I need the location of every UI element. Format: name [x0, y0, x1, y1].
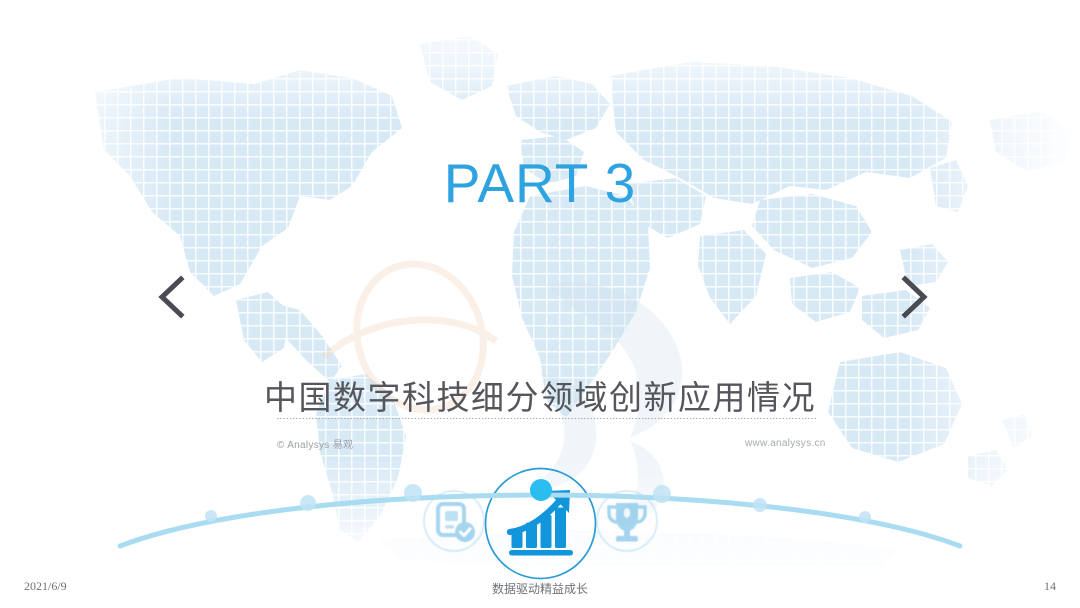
progress-dot[interactable] — [653, 485, 671, 503]
section-icon-row — [0, 230, 1080, 360]
background-fade-top — [0, 0, 1080, 120]
progress-dot[interactable] — [859, 511, 871, 523]
part-label: PART 3 — [0, 151, 1080, 215]
website-url-label[interactable]: www.analysys.cn — [745, 438, 826, 449]
progress-dot[interactable] — [300, 495, 316, 511]
page-title: 中国数字科技细分领域创新应用情况 — [0, 371, 1080, 419]
footer-page-number: 14 — [1044, 579, 1056, 594]
progress-arc-line — [120, 495, 960, 546]
progress-dot[interactable] — [205, 510, 217, 522]
progress-dot[interactable] — [404, 484, 422, 502]
progress-arc — [0, 460, 1080, 555]
progress-dot[interactable] — [753, 498, 767, 512]
copyright-label: © Analysys 易观 — [277, 436, 353, 451]
footer-slogan: 数据驱动精益成长 — [0, 580, 1080, 597]
slide-canvas: PART 3 — [0, 0, 1080, 608]
progress-dot-group — [205, 479, 871, 523]
progress-dot[interactable] — [530, 479, 552, 501]
title-divider — [277, 418, 817, 419]
